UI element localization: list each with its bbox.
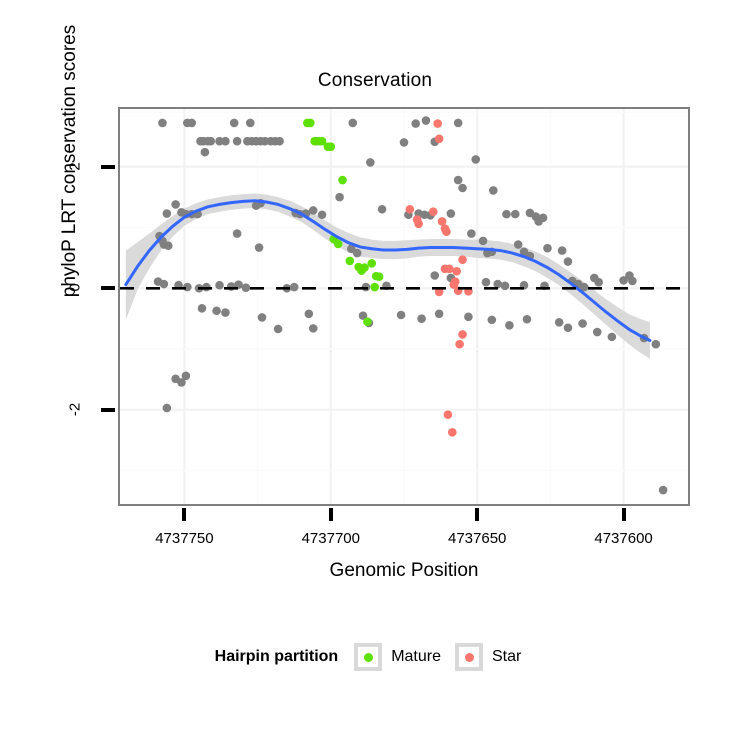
data-point-other-56 [539,213,548,222]
x-axis-label: Genomic Position [118,560,690,582]
data-point-other-12 [206,137,215,146]
data-point-other-95 [501,282,510,291]
x-tick-0 [182,508,186,521]
data-point-other-110 [305,309,314,318]
data-point-mature-18 [363,317,372,326]
data-point-other-108 [221,308,230,317]
data-point-other-76 [564,257,573,266]
x-tick-2 [475,508,479,521]
data-point-other-50 [489,186,498,195]
data-point-mature-17 [370,283,379,292]
data-point-other-4 [246,119,255,128]
x-tick-3 [622,508,626,521]
data-point-star-2 [406,205,415,214]
data-point-other-114 [417,314,426,323]
data-point-other-93 [482,278,491,287]
y-tick-0 [101,408,115,412]
data-point-other-75 [558,246,567,255]
data-point-other-23 [275,137,284,146]
data-point-other-28 [366,158,375,167]
data-point-other-62 [164,241,173,250]
chart-root: Conservation phyloP LRT conservation sco… [0,0,750,750]
data-point-other-74 [543,244,552,253]
plot-canvas [120,109,688,504]
data-point-other-29 [471,155,480,164]
data-point-star-18 [458,330,467,339]
legend-title: Hairpin partition [215,648,339,666]
legend-label-star: Star [492,648,521,666]
legend-key-mature [354,643,382,671]
legend: Hairpin partition Mature Star [0,643,750,671]
data-point-other-0 [158,119,167,128]
data-point-other-7 [422,116,431,125]
x-tick-label-2: 4737650 [417,530,537,547]
data-point-other-67 [467,229,476,238]
y-axis-label: phyloP LRT conservation scores [59,0,81,401]
legend-label-mature: Mature [391,648,441,666]
data-point-other-105 [628,277,637,286]
data-point-other-86 [242,283,251,292]
legend-dot-mature-icon [364,653,373,662]
data-point-other-44 [378,205,387,214]
legend-key-star [455,643,483,671]
data-point-other-63 [233,229,242,238]
data-point-other-122 [578,319,587,328]
data-point-mature-9 [334,240,343,249]
data-point-star-11 [445,265,454,274]
x-tick-label-1: 4737700 [271,530,391,547]
data-point-other-25 [400,138,409,147]
data-point-mature-13 [360,263,369,272]
data-point-other-131 [182,371,191,380]
data-point-other-68 [479,237,488,246]
y-tick-1 [101,286,115,290]
data-point-other-8 [454,119,463,128]
data-point-other-126 [651,340,660,349]
y-tick-label-0: -2 [67,389,84,429]
data-point-other-132 [163,404,172,413]
data-point-other-123 [593,328,602,337]
data-point-star-5 [429,207,438,216]
data-point-other-102 [594,278,603,287]
data-point-other-117 [488,316,497,325]
chart-title: Conservation [0,70,750,92]
data-point-other-128 [309,324,318,333]
data-point-mature-1 [306,119,315,128]
data-point-other-107 [212,306,221,315]
data-point-other-71 [514,240,523,249]
data-point-mature-7 [338,176,347,185]
data-point-mature-16 [375,272,384,281]
trend-line [126,201,650,341]
data-point-other-118 [505,321,514,330]
legend-entry-star[interactable]: Star [455,643,521,671]
data-point-other-64 [255,243,264,252]
data-point-other-58 [458,184,467,193]
data-point-other-15 [233,137,242,146]
confidence-band [126,193,650,358]
y-tick-label-2: 2 [67,146,84,186]
data-point-star-4 [414,220,423,229]
data-point-star-0 [433,119,442,128]
x-tick-label-3: 4737600 [564,530,684,547]
data-point-star-20 [444,410,453,419]
data-point-other-14 [221,137,230,146]
data-point-star-19 [455,340,464,349]
data-point-other-119 [523,315,532,324]
data-point-other-41 [309,206,318,215]
data-point-other-42 [318,210,327,219]
plot-panel [118,107,690,506]
data-point-other-66 [353,249,362,258]
legend-entry-mature[interactable]: Mature [354,643,441,671]
data-point-other-49 [447,209,456,218]
data-point-other-3 [230,119,239,128]
y-tick-label-1: 0 [67,268,84,308]
data-point-other-27 [201,148,210,157]
x-tick-label-0: 4737750 [124,530,244,547]
x-tick-1 [329,508,333,521]
data-point-other-116 [464,313,473,322]
data-point-other-109 [258,313,267,322]
data-point-other-106 [198,304,207,313]
y-tick-2 [101,165,115,169]
data-point-other-43 [335,193,344,202]
data-point-other-91 [430,271,439,280]
data-point-other-113 [397,311,406,320]
data-point-other-127 [274,325,283,334]
data-point-mature-10 [346,257,355,266]
data-point-other-78 [160,280,169,289]
data-point-other-30 [163,209,172,218]
data-point-mature-6 [327,142,336,151]
legend-dot-star-icon [465,653,474,662]
data-point-other-52 [511,210,520,219]
data-point-other-120 [555,318,564,327]
data-point-other-6 [411,119,420,128]
data-point-other-5 [348,119,357,128]
data-point-star-21 [448,428,457,437]
data-point-star-1 [435,134,444,143]
data-point-other-2 [187,119,196,128]
data-point-other-35 [171,200,180,209]
data-point-mature-14 [367,259,376,268]
data-point-other-115 [435,309,444,318]
data-point-other-51 [502,210,511,219]
data-point-star-8 [442,227,451,236]
data-point-other-133 [659,486,668,495]
data-point-star-12 [452,267,461,276]
data-point-star-9 [458,255,467,264]
data-point-other-83 [215,281,224,290]
data-point-other-88 [290,283,299,292]
data-point-other-57 [454,176,463,185]
data-point-other-124 [608,333,617,342]
y-axis-label-container: phyloP LRT conservation scores [0,0,60,750]
data-point-other-121 [564,323,573,332]
